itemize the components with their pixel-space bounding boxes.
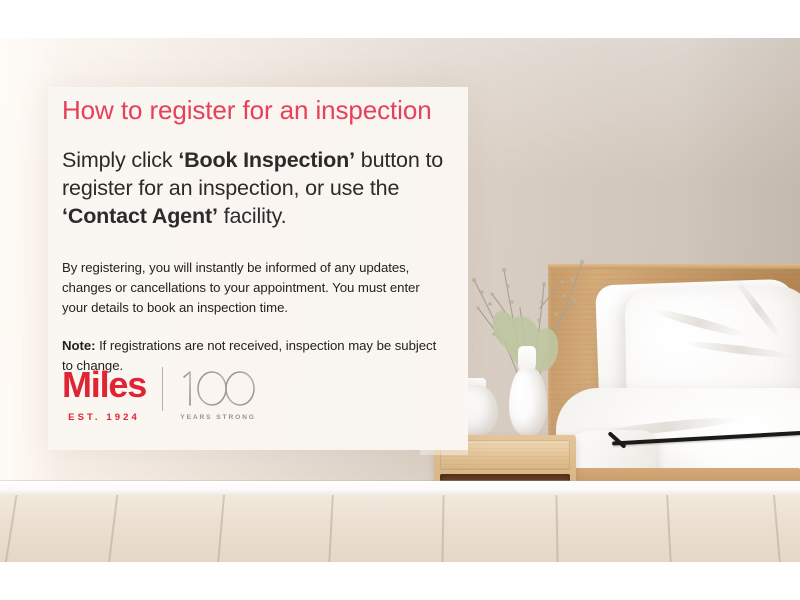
miles-wordmark-group: Miles EST. 1924 bbox=[62, 367, 146, 423]
info-panel-content: How to register for an inspection Simply… bbox=[62, 95, 462, 376]
pillow-crease bbox=[652, 306, 747, 340]
floor-plank-seam bbox=[216, 495, 226, 562]
page-title: How to register for an inspection bbox=[62, 95, 462, 126]
contact-agent-label: ‘Contact Agent’ bbox=[62, 204, 218, 228]
established-year: EST. 1924 bbox=[62, 412, 146, 423]
note-label: Note: bbox=[62, 338, 95, 353]
floor-plank-seam bbox=[441, 495, 445, 562]
instruction-text: Simply click ‘Book Inspection’ button to… bbox=[62, 146, 454, 231]
floor-plank-seam bbox=[107, 495, 120, 562]
miles-logo: Miles EST. 1924 YEARS STRON bbox=[62, 367, 260, 423]
anniversary-badge: YEARS STRONG bbox=[176, 368, 260, 421]
floor-plank-seam bbox=[3, 495, 19, 562]
floor-plank-seam bbox=[772, 495, 782, 562]
screenshot-root: How to register for an inspection Simply… bbox=[0, 0, 800, 600]
tall-vase bbox=[509, 368, 547, 436]
anniversary-tagline: YEARS STRONG bbox=[176, 414, 260, 421]
floor-plank-seam bbox=[666, 495, 673, 562]
miles-wordmark: Miles bbox=[62, 367, 146, 403]
floor-plank-seam bbox=[328, 495, 335, 562]
wood-floor bbox=[0, 495, 800, 562]
instruction-part-3: facility. bbox=[218, 204, 287, 228]
registration-info-paragraph: By registering, you will instantly be in… bbox=[62, 258, 442, 318]
instruction-part-1: Simply click bbox=[62, 148, 178, 172]
hundred-years-icon bbox=[176, 368, 260, 408]
pillow-crease bbox=[684, 339, 794, 360]
book-inspection-label: ‘Book Inspection’ bbox=[178, 148, 355, 172]
logo-divider bbox=[162, 367, 163, 411]
floor-plank-seam bbox=[555, 495, 559, 562]
